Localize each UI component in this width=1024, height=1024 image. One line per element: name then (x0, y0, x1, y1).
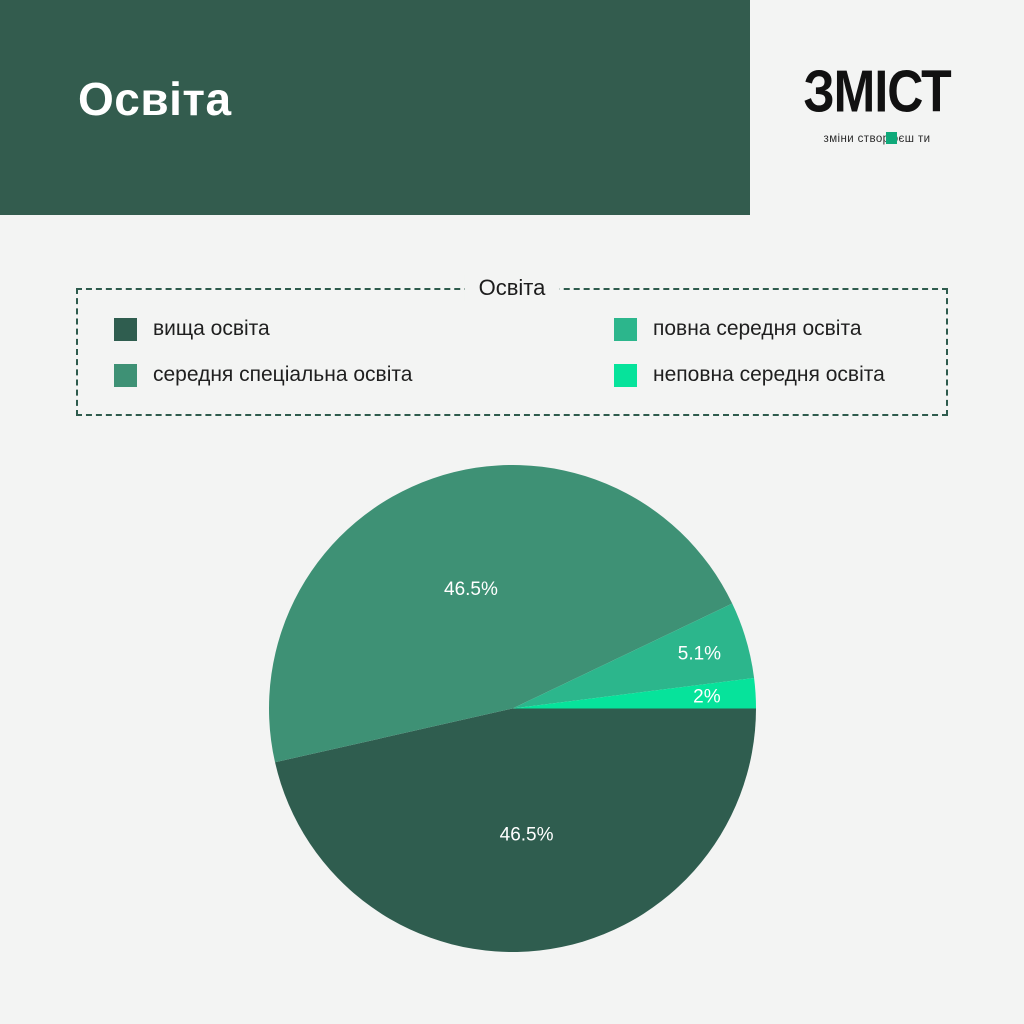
pie-chart: 46.5%46.5%5.1%2% (269, 465, 756, 952)
logo-wordmark-text: ЗМІСТ (803, 62, 950, 121)
legend-item-nepovna-serednia-osvita[interactable]: неповна середня освіта (614, 363, 926, 387)
legend-title: Освіта (465, 275, 560, 301)
legend-item-vyshcha-osvita[interactable]: вища освіта (114, 317, 614, 341)
pie-slice-group (269, 465, 756, 952)
legend-item-povna-serednia-osvita[interactable]: повна середня освіта (614, 317, 926, 341)
pie-slice-label: 46.5% (444, 579, 498, 600)
legend-item-label: вища освіта (153, 317, 270, 341)
legend-swatch-icon (614, 318, 637, 341)
chart-legend: Освіта вища освіта повна середня освіта … (76, 288, 948, 416)
pie-slice-label: 46.5% (500, 824, 554, 845)
pie-slice-label: 5.1% (678, 644, 721, 665)
legend-item-label: неповна середня освіта (653, 363, 885, 387)
pie-chart-svg: 46.5%46.5%5.1%2% (269, 465, 756, 952)
legend-swatch-icon (614, 364, 637, 387)
logo-tagline: зміни створюєш ти (794, 133, 960, 145)
legend-item-serednia-spetsialna-osvita[interactable]: середня спеціальна освіта (114, 363, 614, 387)
legend-swatch-icon (114, 364, 137, 387)
legend-item-label: середня спеціальна освіта (153, 363, 412, 387)
pie-slice-label: 2% (693, 686, 721, 707)
legend-items: вища освіта повна середня освіта середня… (114, 317, 926, 387)
legend-swatch-icon (114, 318, 137, 341)
logo-accent-dot-icon (886, 132, 897, 144)
page-title: Освіта (78, 76, 232, 122)
brand-logo: ЗМІСТ зміни створюєш ти (794, 62, 960, 145)
legend-item-label: повна середня освіта (653, 317, 862, 341)
